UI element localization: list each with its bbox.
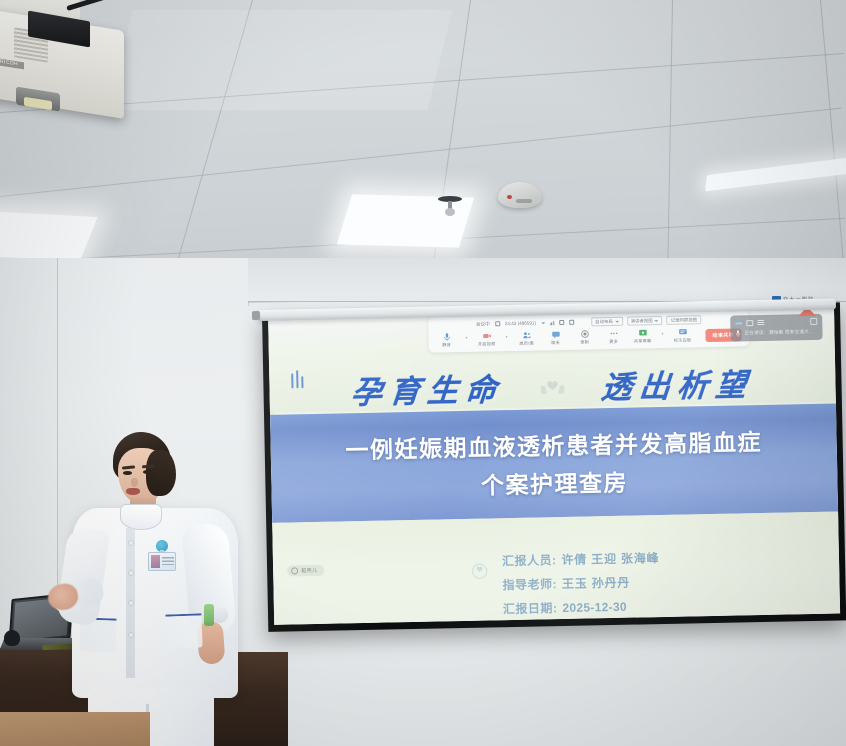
badge-photo	[151, 555, 160, 568]
slide-content: 孕育生命 透出析望 一例妊娠期血液透析患者并发高脂血症 个案护理查房	[268, 308, 840, 625]
expand-icon[interactable]	[559, 320, 564, 325]
toolbar-button-participants[interactable]: 成员/邀	[516, 330, 536, 346]
speaker-panel-controls	[735, 318, 817, 327]
toolbar-label-chat: 聊天	[551, 340, 560, 346]
share-screen-icon	[638, 328, 647, 337]
slide-info-block: 汇报人员: 许倩 王迎 张海峰 指导老师: 王玉 孙丹丹 汇报日期: 2025-…	[471, 549, 661, 618]
record-view-label: 记录同屏视图	[671, 317, 697, 324]
presenter-collar	[120, 504, 162, 530]
info-value-date: 2025-12-30	[562, 600, 627, 615]
badge-pin-icon	[156, 540, 168, 552]
slide-info-rows: 汇报人员: 许倩 王迎 张海峰 指导老师: 王玉 孙丹丹 汇报日期: 2025-…	[502, 549, 661, 617]
presenter-eye-left	[123, 471, 132, 475]
watermark-text: 稻壳儿	[301, 567, 317, 574]
info-label-advisors: 指导老师:	[502, 575, 557, 593]
slide-info-area: 汇报人员: 许倩 王迎 张海峰 指导老师: 王玉 孙丹丹 汇报日期: 2025-…	[272, 511, 840, 624]
calligraphy-right-text: 透出析望	[600, 359, 756, 407]
front-table	[0, 712, 150, 746]
info-row-advisors: 指导老师: 王玉 孙丹丹	[502, 573, 660, 593]
watermark-dot-icon	[291, 567, 298, 574]
speaking-label: 正在讲话:	[744, 330, 765, 336]
toolbar-button-whiteboard[interactable]: 标注白板	[672, 327, 692, 343]
expand-panel-icon[interactable]	[810, 318, 817, 325]
presenter-button-1	[128, 540, 134, 546]
toolbar-label-record: 录制	[580, 339, 589, 345]
toolbar-button-mute[interactable]: 静音	[436, 332, 456, 348]
conference-toolbar-buttons: 静音 开启视频 成员/邀	[434, 325, 743, 348]
speaker-panel-status: 正在讲话: 魏怡敏 西安交通大...	[735, 328, 817, 338]
minimize-icon[interactable]	[735, 322, 742, 324]
info-label-date: 汇报日期:	[503, 599, 558, 617]
chevron-down-icon-layout[interactable]	[655, 320, 659, 322]
presenter-button-3	[128, 600, 134, 606]
conference-room-photo: RICOH 交大一附院	[0, 0, 846, 746]
hospital-emblem-icon	[471, 563, 488, 580]
slide-title-band: 一例妊娠期血液透析患者并发高脂血症 个案护理查房	[270, 403, 838, 522]
slide-watermark: 稻壳儿	[287, 565, 324, 577]
whiteboard-icon	[678, 327, 687, 336]
participants-icon	[522, 331, 531, 340]
calligraphy-left-text: 孕育生命	[350, 364, 506, 412]
layout-selector[interactable]: 演讲者视图	[627, 316, 663, 326]
projection-screen: 孕育生命 透出析望 一例妊娠期血液透析患者并发高脂血症 个案护理查房	[262, 302, 846, 632]
more-icon	[609, 329, 618, 338]
id-badge	[148, 552, 176, 571]
ceiling-projector: RICOH	[0, 0, 142, 126]
toolbar-label-whiteboard: 标注白板	[674, 337, 692, 343]
toolbar-label-share-screen: 共享屏幕	[634, 338, 652, 344]
view-selector[interactable]: 自动布局	[591, 317, 623, 327]
decorative-ticks-icon	[291, 370, 303, 388]
presenter	[58, 432, 248, 746]
record-view-button[interactable]: 记录同屏视图	[667, 315, 702, 325]
chevron-down-icon-video[interactable]	[505, 336, 507, 338]
chat-icon	[551, 330, 560, 339]
signal-bars-icon	[550, 321, 554, 325]
presenter-eye-right	[143, 470, 152, 474]
presenter-button-4	[128, 632, 134, 638]
toolbar-button-record[interactable]: 录制	[574, 329, 594, 345]
info-value-reporters: 许倩 王迎 张海峰	[561, 549, 659, 568]
timer-icon	[495, 321, 500, 326]
presenter-button-2	[128, 570, 134, 576]
layout-selector-label: 演讲者视图	[631, 318, 653, 324]
info-row-date: 汇报日期: 2025-12-30	[503, 597, 661, 617]
info-label-reporters: 汇报人员:	[502, 551, 557, 569]
list-icon[interactable]	[757, 319, 764, 325]
speaker-panel[interactable]: 正在讲话: 魏怡敏 西安交通大...	[730, 314, 823, 342]
toolbar-label-more: 更多	[609, 339, 618, 345]
toolbar-label-video: 开启视频	[478, 341, 496, 347]
conference-toolbar[interactable]: 会议中 24:43 (486591) 自动布局 演讲者视图	[428, 311, 749, 352]
presenter-nose	[131, 478, 138, 487]
presenter-pocket-right	[165, 613, 202, 648]
chevron-down-icon-view[interactable]	[615, 320, 619, 322]
microphone-icon	[442, 332, 451, 341]
meeting-duration-text: 24:43 (486591)	[505, 321, 536, 327]
chevron-down-icon-share[interactable]	[661, 332, 663, 334]
info-value-advisors: 王玉 孙丹丹	[562, 574, 630, 592]
chevron-down-icon[interactable]	[541, 322, 545, 324]
desk-object	[4, 630, 20, 646]
slide-title-line-2: 个案护理查房	[481, 464, 629, 501]
toolbar-button-share-screen[interactable]: 共享屏幕	[632, 328, 652, 344]
roller-knob[interactable]	[252, 311, 260, 320]
toolbar-button-video[interactable]: 开启视频	[476, 331, 496, 347]
microphone-icon-speaker	[735, 329, 740, 337]
chevron-down-icon-mic[interactable]	[465, 336, 467, 338]
view-selector-label: 自动布局	[595, 318, 613, 324]
heart-in-hands-icon	[539, 374, 565, 397]
slide-title-line-1: 一例妊娠期血液透析患者并发高脂血症	[345, 423, 762, 465]
speaker-name: 魏怡敏 西安交通大...	[769, 329, 813, 336]
toolbar-button-more[interactable]: 更多	[603, 329, 623, 345]
record-icon	[580, 329, 589, 338]
window-icon[interactable]	[746, 320, 753, 326]
camera-icon	[482, 331, 491, 340]
smoke-detector-icon	[498, 182, 542, 208]
conference-toolbar-view-controls: 自动布局 演讲者视图 记录同屏视图	[591, 315, 701, 326]
info-row-reporters: 汇报人员: 许倩 王迎 张海峰	[502, 549, 660, 569]
sprinkler-head-icon	[438, 196, 462, 216]
presenter-pocket-item	[204, 604, 214, 626]
presenter-mouth	[126, 488, 140, 495]
grid-view-icon[interactable]	[569, 320, 574, 325]
meeting-status-text: 会议中	[476, 321, 490, 327]
meeting-status: 会议中	[476, 321, 490, 327]
toolbar-button-chat[interactable]: 聊天	[545, 330, 565, 346]
projection-surface: 孕育生命 透出析望 一例妊娠期血液透析患者并发高脂血症 个案护理查房	[268, 308, 840, 625]
badge-text-lines	[162, 557, 174, 567]
wall-soffit	[248, 258, 846, 302]
toolbar-label-mute: 静音	[442, 342, 451, 348]
toolbar-label-participants: 成员/邀	[519, 341, 534, 347]
